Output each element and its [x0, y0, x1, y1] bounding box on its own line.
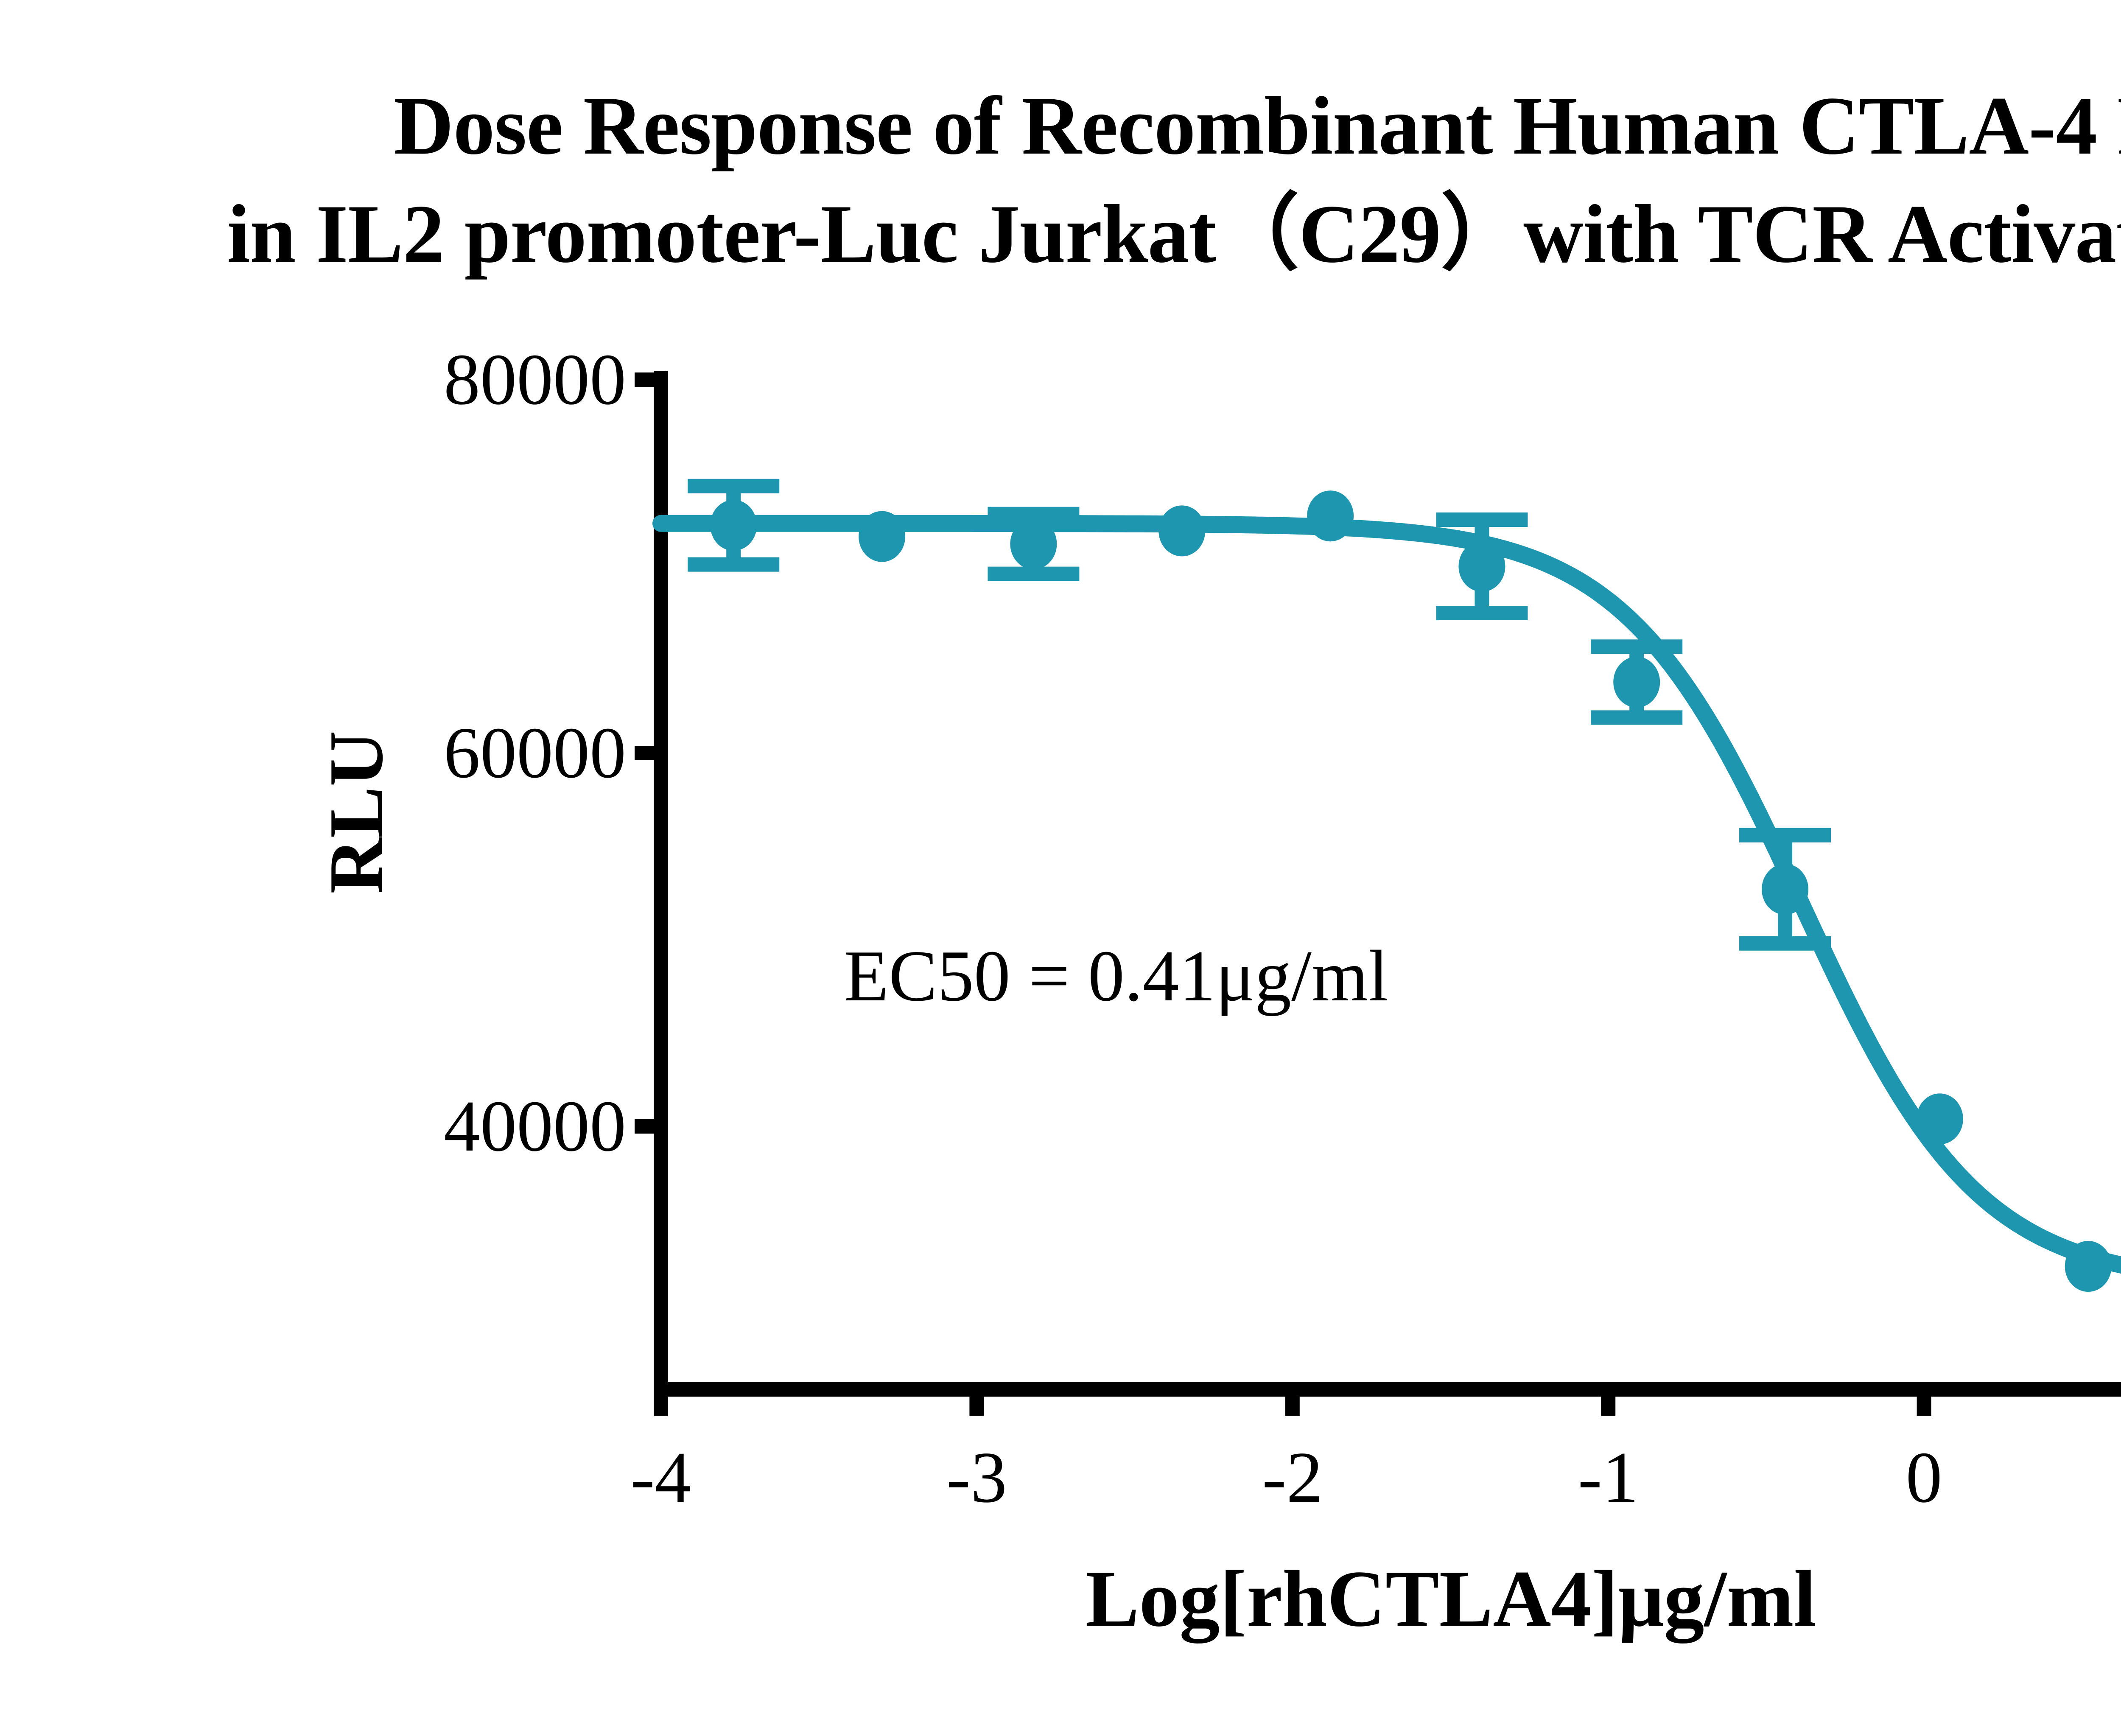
y-tick-label-2: 80000 [363, 343, 626, 416]
data-point-2 [1010, 518, 1057, 569]
error-bars-group [688, 486, 1831, 944]
chart-figure: Dose Response of Recombinant Human CTLA-… [0, 0, 2121, 1736]
data-point-1 [859, 511, 905, 562]
data-point-0 [710, 500, 757, 551]
data-point-7 [1762, 864, 1808, 915]
data-point-6 [1613, 657, 1660, 708]
x-tick-label-2: -2 [1208, 1441, 1377, 1514]
data-point-3 [1158, 505, 1205, 556]
y-tick-label-0: 40000 [363, 1090, 626, 1163]
x-tick-label-4: 0 [1839, 1441, 2009, 1514]
x-tick-label-1: -3 [892, 1441, 1061, 1514]
fit-curve [661, 524, 2121, 1280]
data-point-4 [1307, 490, 1354, 541]
x-tick-label-0: -4 [576, 1441, 746, 1514]
data-point-5 [1458, 541, 1505, 592]
data-point-9 [2065, 1241, 2112, 1292]
y-tick-label-1: 60000 [363, 717, 626, 790]
data-markers-group [710, 490, 2121, 1303]
data-point-8 [1917, 1093, 1963, 1144]
fit-curve-group [661, 524, 2121, 1280]
x-tick-label-3: -1 [1523, 1441, 1693, 1514]
